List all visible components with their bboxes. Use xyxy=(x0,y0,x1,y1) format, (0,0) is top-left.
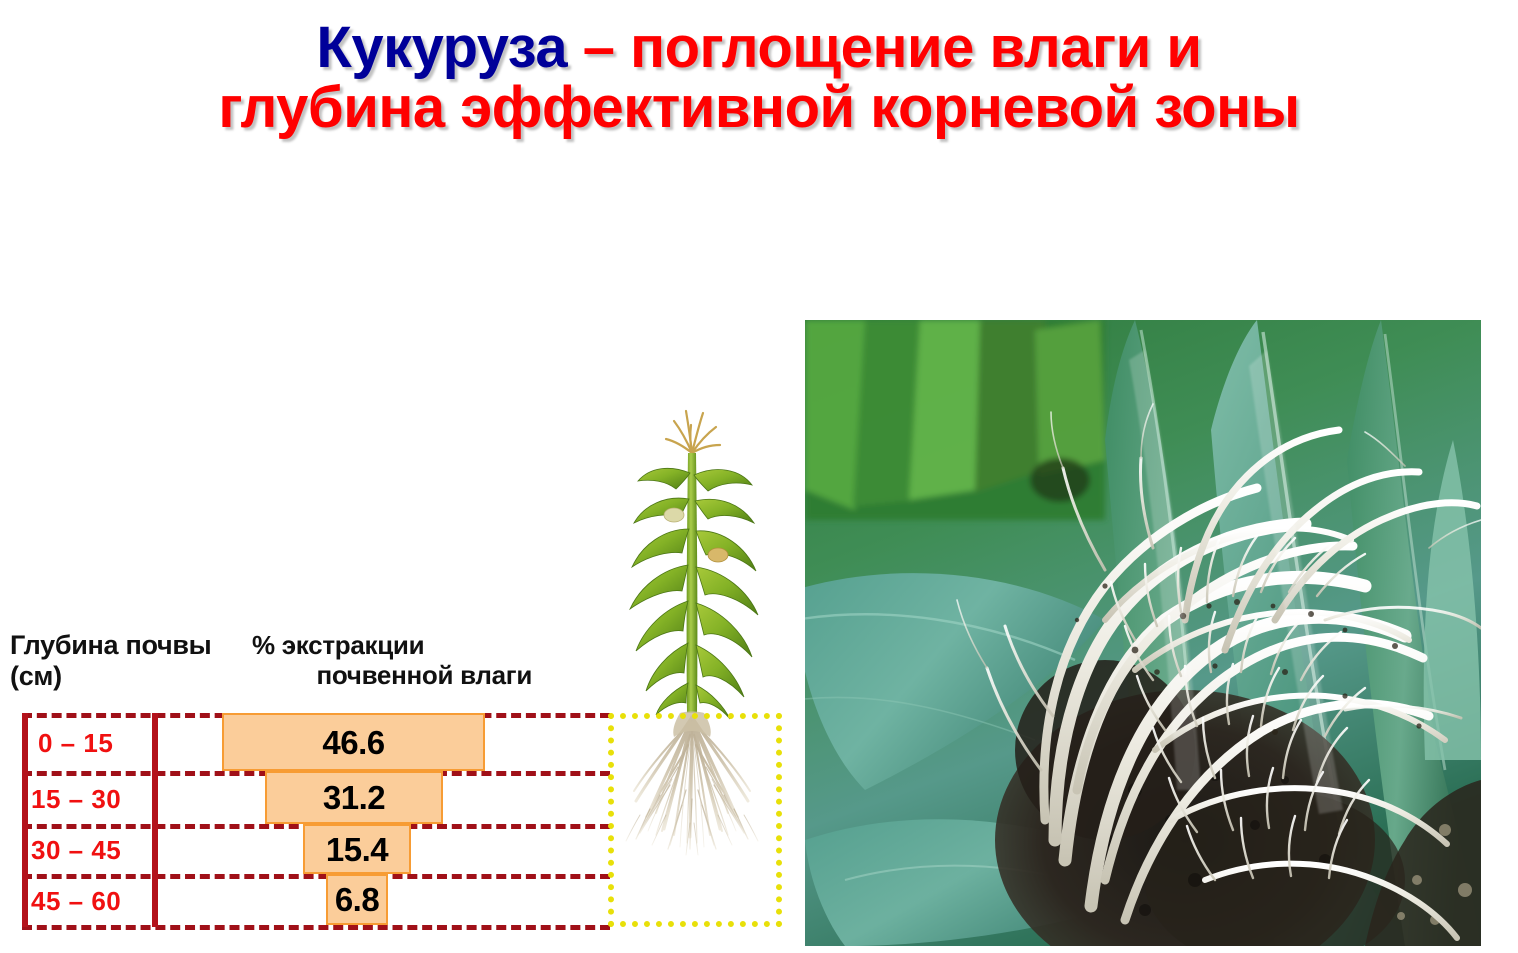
bar-45-60: 6.8 xyxy=(326,874,388,925)
grid-line-45cm xyxy=(22,874,610,879)
chart-header-soil-depth: Глубина почвы (см) xyxy=(10,630,260,693)
effective-root-zone-box xyxy=(608,713,782,927)
depth-label-0-15: 0 – 15 xyxy=(38,728,113,759)
bar-value-15-30: 31.2 xyxy=(323,781,385,814)
corn-plant-illustration xyxy=(600,395,800,940)
bar-value-0-15: 46.6 xyxy=(322,726,384,759)
soil-moisture-extraction-chart: Глубина почвы (см) % экстракции почвенно… xyxy=(0,628,620,948)
title-line-1-rest: – поглощение влаги и xyxy=(567,15,1202,80)
bar-0-15: 46.6 xyxy=(222,713,485,771)
bar-value-30-45: 15.4 xyxy=(326,833,388,866)
corn-tassel-icon xyxy=(666,411,720,455)
chart-header-soil-depth-units: (см) xyxy=(10,661,260,692)
depth-label-30-45: 30 – 45 xyxy=(31,835,121,866)
depth-label-15-30: 15 – 30 xyxy=(31,784,121,815)
chart-header-extraction-line1: % экстракции xyxy=(252,630,424,660)
axis-bracket-middle xyxy=(152,713,158,927)
bar-15-30: 31.2 xyxy=(265,771,443,824)
bar-30-45: 15.4 xyxy=(303,824,411,874)
chart-plot-area: 0 – 15 15 – 30 30 – 45 45 – 60 46.6 31.2… xyxy=(0,711,620,931)
title-word-crop: Кукуруза xyxy=(316,15,567,80)
corn-root-closeup-photo xyxy=(805,320,1481,946)
corn-stem xyxy=(687,453,698,713)
grid-line-60cm xyxy=(22,925,610,930)
chart-header-extraction: % экстракции почвенной влаги xyxy=(252,630,532,690)
chart-header-extraction-line2: почвенной влаги xyxy=(252,660,532,690)
title-line-1: Кукуруза – поглощение влаги и xyxy=(0,18,1518,78)
corn-root-photo-svg xyxy=(805,320,1481,946)
bar-value-45-60: 6.8 xyxy=(335,883,379,916)
chart-header-soil-depth-line1: Глубина почвы xyxy=(10,630,211,660)
depth-label-45-60: 45 – 60 xyxy=(31,886,121,917)
axis-bracket-left xyxy=(22,713,28,927)
title-line-2: глубина эффективной корневой зоны xyxy=(0,78,1518,138)
page-title: Кукуруза – поглощение влаги и глубина эф… xyxy=(0,18,1518,137)
